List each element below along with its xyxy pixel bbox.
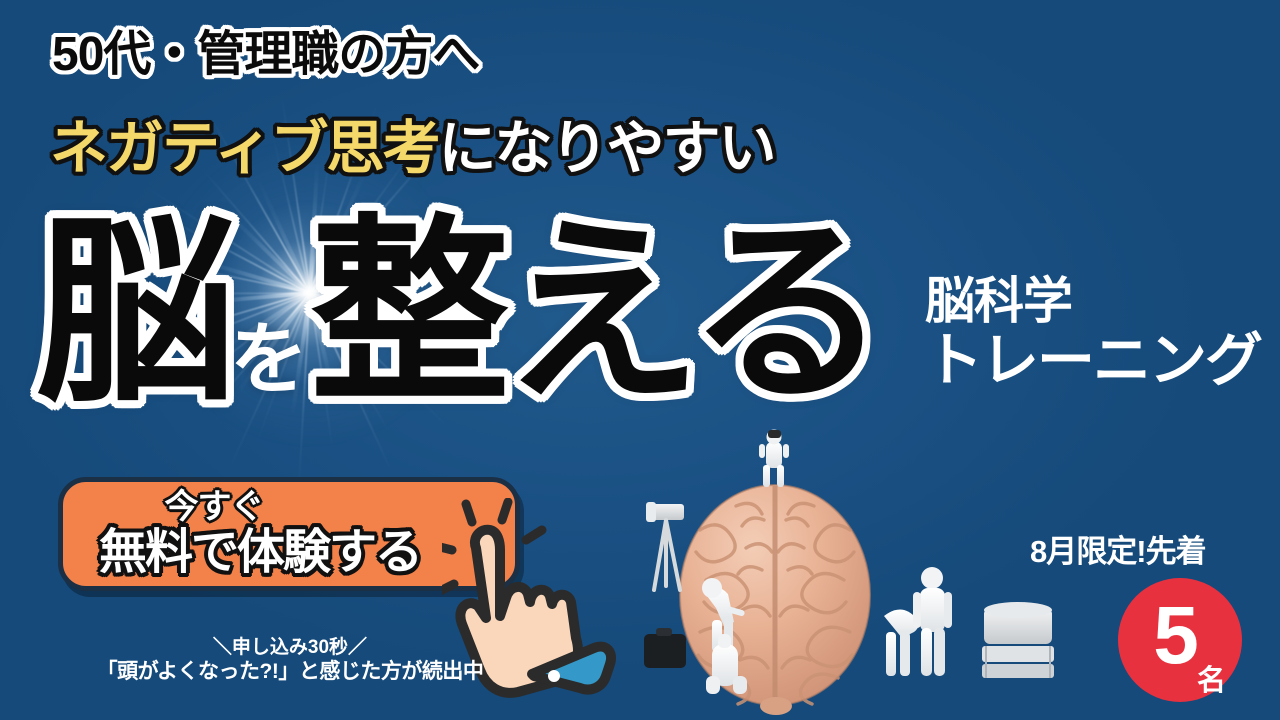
microcopy-line-2: 「頭がよくなった?!」と感じた方が続出中 — [60, 659, 520, 685]
sub-headline-plain: になりやすい — [439, 116, 775, 181]
microcopy: ＼申し込み30秒／ 「頭がよくなった?!」と感じた方が続出中 — [60, 636, 520, 685]
headline-particle-wo: を — [230, 320, 308, 398]
cta-line-1: 今すぐ — [165, 490, 264, 526]
cta-line-2: 無料で体験する — [99, 528, 421, 578]
limited-count-unit: 名 — [1197, 667, 1226, 696]
kicker-text: 脳科学 トレーニング — [925, 276, 1261, 390]
brain-scene-svg — [600, 420, 1070, 720]
eyebrow-text: 50代・管理職の方へ — [52, 31, 479, 79]
limited-count-number: 5 — [1153, 595, 1199, 677]
supply-crate — [982, 602, 1054, 678]
camera-on-tripod — [646, 502, 684, 590]
headline-word-nou: 脳 — [36, 214, 228, 414]
figurine-standing-worker — [913, 567, 952, 676]
figurine-photographer-on-top — [759, 430, 789, 488]
headline-word-totonoeru: 整える — [310, 214, 880, 414]
equipment-case — [644, 628, 686, 668]
sub-headline-highlight: ネガティブ思考 — [50, 116, 439, 181]
kicker-line-1: 脳科学 — [925, 276, 1261, 327]
limited-offer-label: 8月限定!先着 — [1030, 526, 1206, 571]
microcopy-line-1: ＼申し込み30秒／ — [60, 636, 520, 659]
ad-banner-stage: 50代・管理職の方へ ネガティブ思考になりやすい 脳 を 整える 脳科学 トレー… — [0, 0, 1280, 720]
brain-scene-photo — [600, 420, 1070, 720]
cuff-dot — [548, 670, 560, 682]
main-headline: 脳 を 整える — [36, 214, 880, 414]
sub-headline: ネガティブ思考になりやすい — [50, 120, 775, 178]
limited-count-badge: 5 名 — [1118, 578, 1242, 702]
kicker-line-2: トレーニング — [925, 331, 1261, 390]
cta-button[interactable]: 今すぐ 無料で体験する — [58, 477, 520, 591]
